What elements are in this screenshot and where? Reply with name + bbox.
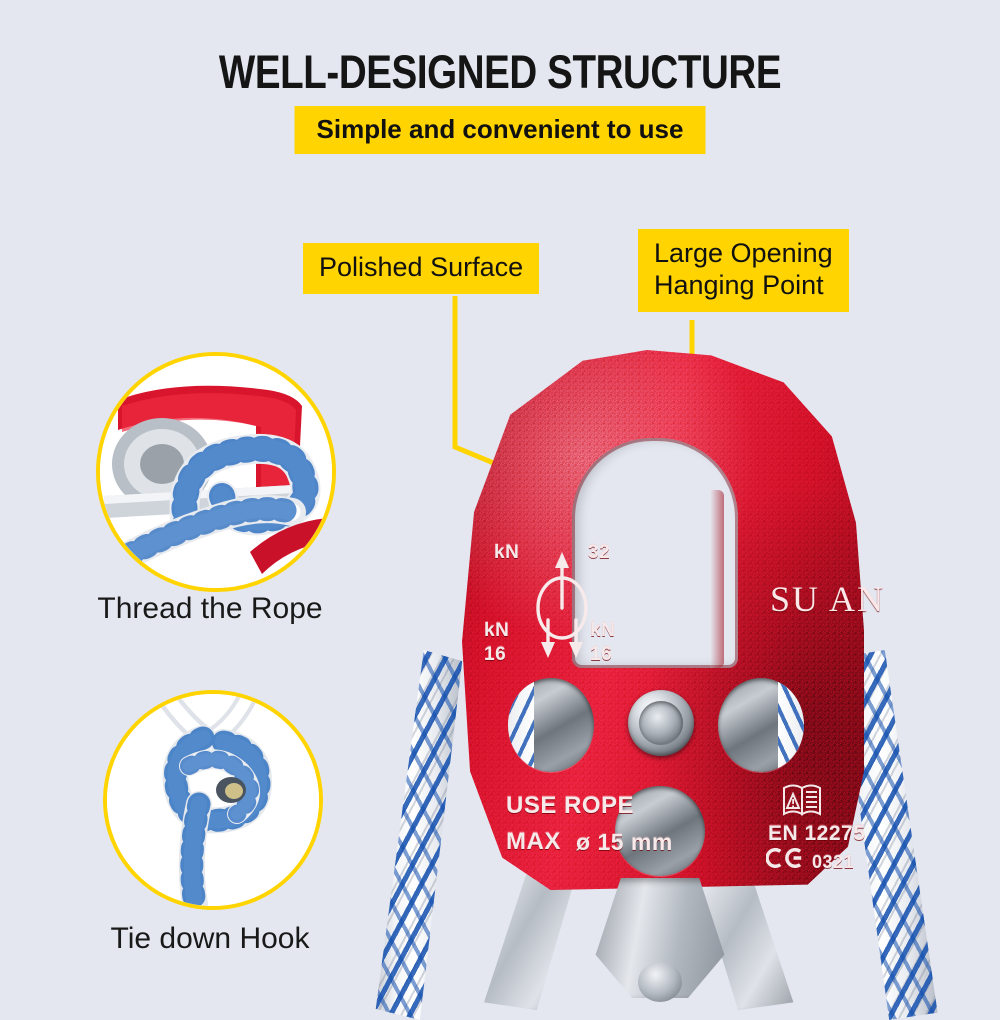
- caption-thread-the-rope: Thread the Rope: [0, 592, 420, 626]
- kn-left-label: kN: [484, 620, 509, 642]
- lightening-hole-right: [718, 678, 804, 772]
- kn-load-rating-diagram: kN 32 kN 16 kN 16: [498, 546, 626, 662]
- center-axle-rivet: [628, 690, 694, 756]
- lightening-hole-left: [508, 678, 594, 772]
- ce-mark-icon: [766, 848, 810, 868]
- kn-right-value: 16: [590, 644, 612, 666]
- page-title: WELL-DESIGNED STRUCTURE: [90, 44, 910, 99]
- thread-the-rope-illustration: [100, 356, 332, 588]
- callout-polished-surface[interactable]: Polished Surface: [303, 243, 539, 294]
- use-rope-max-diameter: ø 15 mm: [576, 829, 673, 856]
- standard-en-number: EN 12275: [768, 822, 865, 846]
- kn-right-label: kN: [590, 620, 615, 642]
- tie-down-hook-illustration: [107, 694, 319, 906]
- kn-left-value: 16: [484, 644, 506, 666]
- rope-strand-left: [370, 650, 466, 1020]
- use-rope-line-1: USE ROPE: [506, 792, 634, 820]
- use-rope-line-2: MAX: [506, 828, 561, 856]
- kn-top-value: 32: [588, 542, 610, 564]
- caption-tie-down-hook: Tie down Hook: [0, 922, 420, 956]
- certification-block: EN 12275 0321: [768, 780, 878, 876]
- lower-swivel-pin: [638, 962, 682, 1002]
- becket-inner-edge: [710, 490, 724, 668]
- inset-photo-thread-the-rope: [96, 352, 336, 592]
- subtitle-banner: Simple and convenient to use: [295, 106, 706, 154]
- product-pulley-photo: kN 32 kN 16 kN 16 SU AN USE ROPE MAX ø 1…: [380, 350, 940, 1000]
- infographic-canvas: WELL-DESIGNED STRUCTURE Simple and conve…: [0, 0, 1000, 1000]
- callout-large-opening-hanging-point[interactable]: Large Opening Hanging Point: [638, 229, 849, 312]
- kn-top-label: kN: [494, 542, 519, 564]
- notified-body-number: 0321: [812, 852, 854, 873]
- inset-photo-tie-down-hook: [103, 690, 323, 910]
- read-manual-icon: [780, 780, 826, 818]
- brand-name: SU AN: [770, 578, 885, 620]
